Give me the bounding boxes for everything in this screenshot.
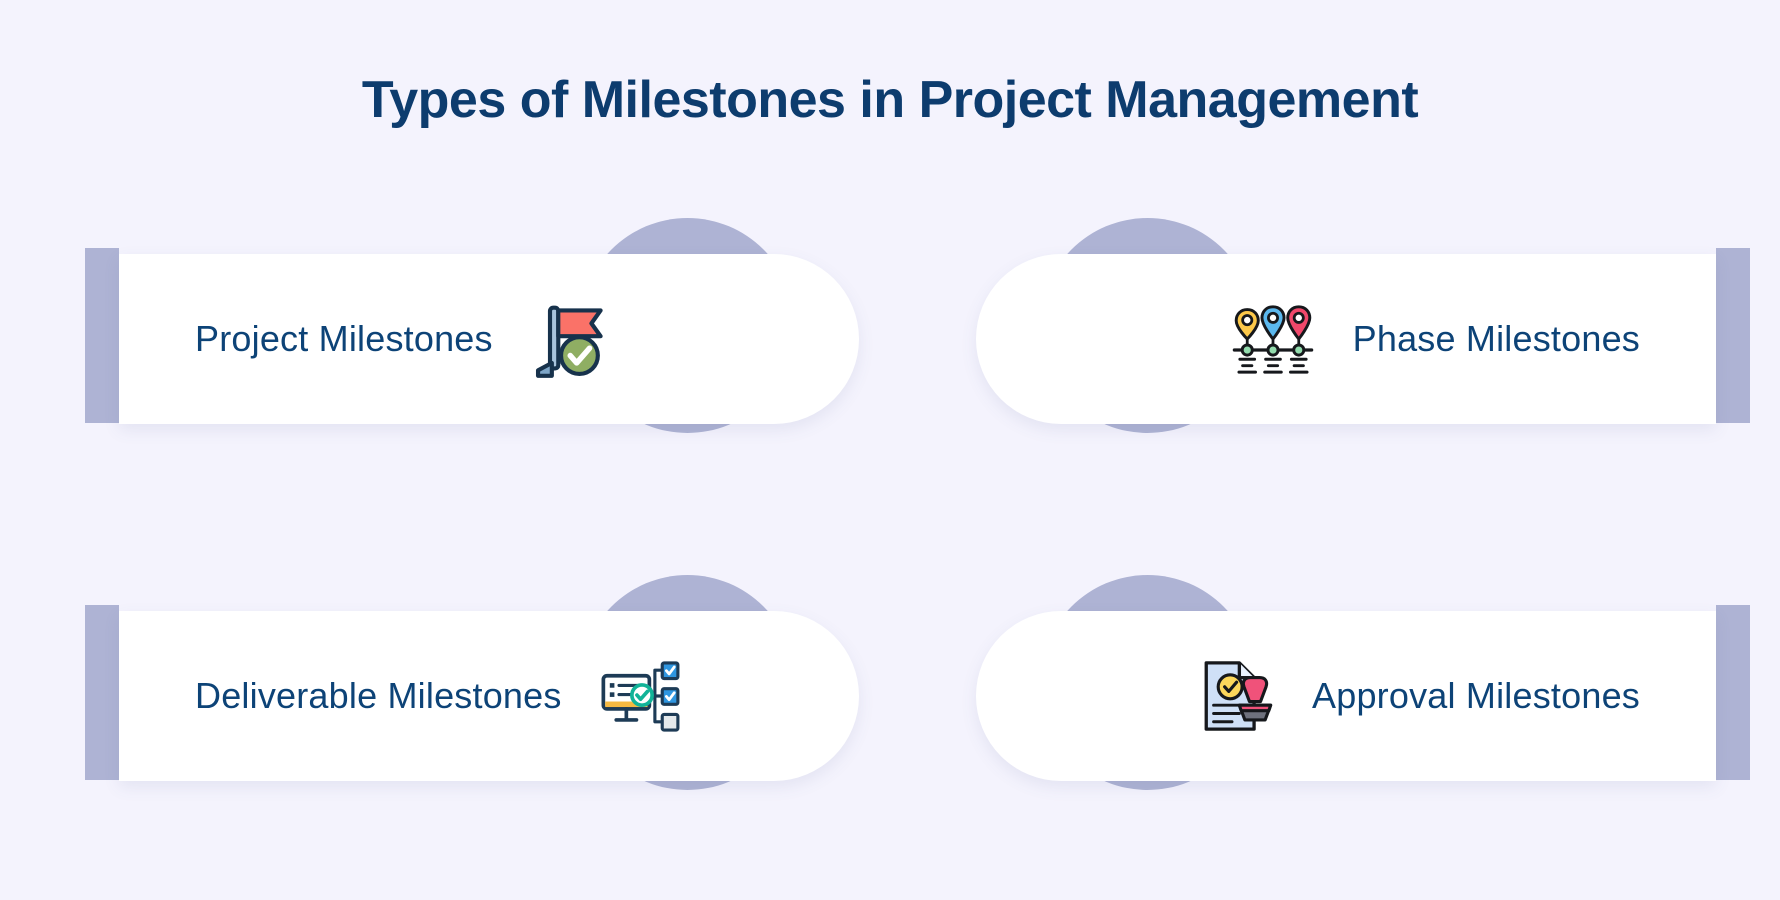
card-label: Project Milestones xyxy=(195,318,493,360)
card-body[interactable]: Project Milestones xyxy=(119,254,859,424)
card-body[interactable]: Approval Milestones xyxy=(976,611,1716,781)
document-stamp-icon xyxy=(1186,650,1278,742)
accent-bar xyxy=(85,605,119,780)
accent-bar xyxy=(1716,605,1750,780)
milestone-card-project[interactable]: Project Milestones xyxy=(95,240,885,470)
milestone-card-deliverable[interactable]: Deliverable Milestones xyxy=(95,597,885,827)
map-pins-timeline-icon xyxy=(1227,293,1319,385)
milestone-card-grid: Project Milestones Phase Mileston xyxy=(0,225,1780,845)
monitor-checklist-icon xyxy=(596,650,688,742)
accent-bar xyxy=(85,248,119,423)
milestone-card-approval[interactable]: Approval Milestones xyxy=(950,597,1740,827)
milestone-card-phase[interactable]: Phase Milestones xyxy=(950,240,1740,470)
card-label: Deliverable Milestones xyxy=(195,675,562,717)
card-label: Approval Milestones xyxy=(1312,675,1640,717)
card-body[interactable]: Phase Milestones xyxy=(976,254,1716,424)
card-label: Phase Milestones xyxy=(1353,318,1640,360)
card-body[interactable]: Deliverable Milestones xyxy=(119,611,859,781)
flag-check-icon xyxy=(527,293,619,385)
page-title: Types of Milestones in Project Managemen… xyxy=(0,70,1780,130)
accent-bar xyxy=(1716,248,1750,423)
